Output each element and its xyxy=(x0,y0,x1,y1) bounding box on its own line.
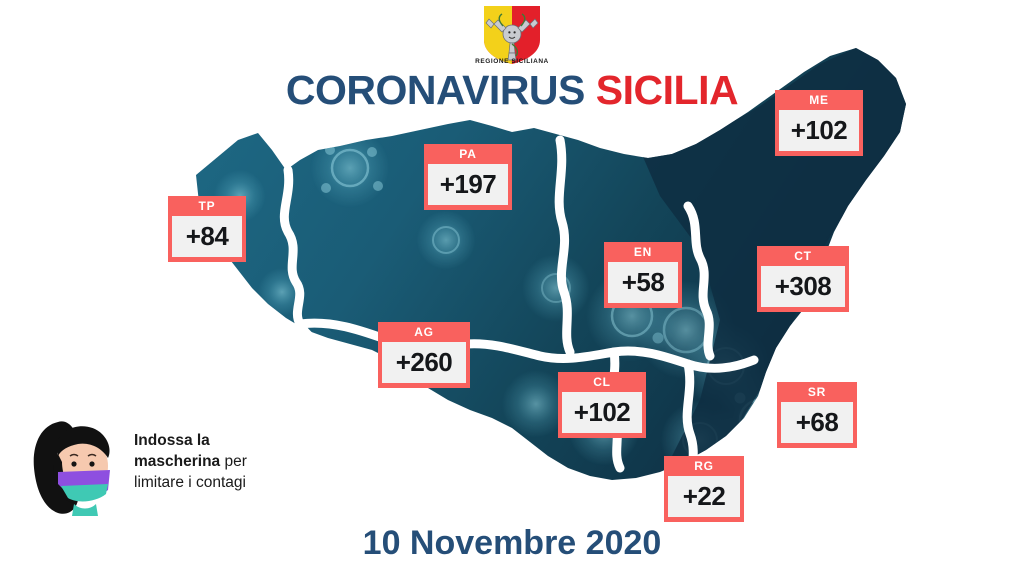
province-badge-ct[interactable]: CT+308 xyxy=(757,246,849,312)
province-badge-tp[interactable]: TP+84 xyxy=(168,196,246,262)
province-new-cases: +102 xyxy=(779,110,859,151)
regione-siciliana-logo xyxy=(482,4,542,66)
province-code: CL xyxy=(562,375,642,392)
title-accent: SICILIA xyxy=(596,67,738,113)
province-badge-pa[interactable]: PA+197 xyxy=(424,144,512,210)
province-badge-en[interactable]: EN+58 xyxy=(604,242,682,308)
province-badge-cl[interactable]: CL+102 xyxy=(558,372,646,438)
woman-wearing-mask-icon xyxy=(28,414,120,516)
province-new-cases: +197 xyxy=(428,164,508,205)
mask-notice-text: Indossa la mascherina per limitare i con… xyxy=(134,430,299,493)
province-new-cases: +84 xyxy=(172,216,242,257)
province-new-cases: +22 xyxy=(668,476,740,517)
province-code: EN xyxy=(608,245,678,262)
province-code: AG xyxy=(382,325,466,342)
report-date: 10 Novembre 2020 xyxy=(0,524,1024,563)
province-badge-ag[interactable]: AG+260 xyxy=(378,322,470,388)
province-code: PA xyxy=(428,147,508,164)
province-new-cases: +260 xyxy=(382,342,466,383)
mask-notice-line3: limitare i contagi xyxy=(134,474,246,491)
province-badge-sr[interactable]: SR+68 xyxy=(777,382,857,448)
province-new-cases: +58 xyxy=(608,262,678,303)
mask-notice-line1: Indossa la xyxy=(134,432,210,449)
province-code: CT xyxy=(761,249,845,266)
logo-caption: REGIONE SICILIANA xyxy=(455,58,569,65)
province-code: TP xyxy=(172,199,242,216)
province-code: RG xyxy=(668,459,740,476)
mask-notice: Indossa la mascherina per limitare i con… xyxy=(24,412,294,520)
mask-notice-line2-suffix: per xyxy=(220,453,247,470)
mask-notice-line2: mascherina xyxy=(134,453,220,470)
coronavirus-sicilia-infographic: REGIONE SICILIANA CORONAVIRUS SICILIA TP… xyxy=(0,0,1024,576)
province-code: SR xyxy=(781,385,853,402)
page-title: CORONAVIRUS SICILIA xyxy=(0,70,1024,111)
province-new-cases: +308 xyxy=(761,266,845,307)
province-badge-me[interactable]: ME+102 xyxy=(775,90,863,156)
title-primary: CORONAVIRUS xyxy=(286,67,585,113)
province-new-cases: +102 xyxy=(562,392,642,433)
province-badge-rg[interactable]: RG+22 xyxy=(664,456,744,522)
province-new-cases: +68 xyxy=(781,402,853,443)
province-code: ME xyxy=(779,93,859,110)
